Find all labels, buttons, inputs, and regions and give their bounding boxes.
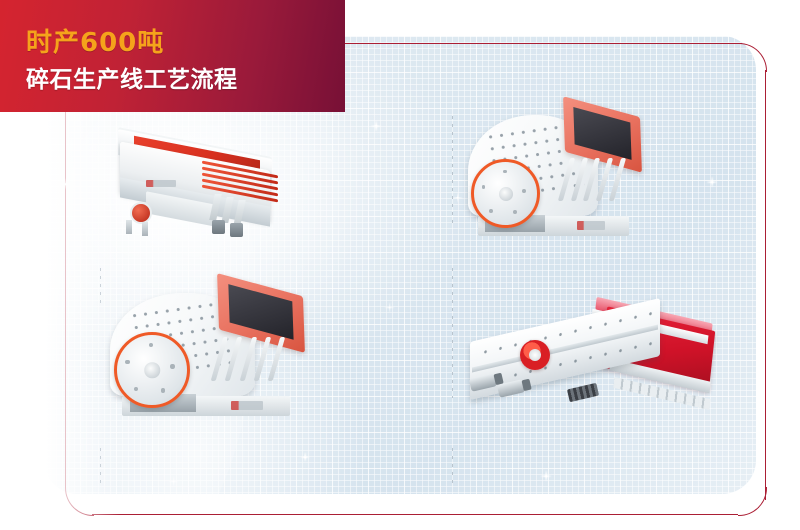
machine-image-hammer-crusher-pcz1716 — [106, 288, 302, 416]
item-card-2[interactable] — [96, 288, 426, 418]
machine-image-hammer-crusher-pcx1213 — [464, 110, 640, 236]
item-card-1[interactable] — [96, 126, 426, 256]
machine-image-vibrating-screen — [464, 296, 714, 416]
item-card-4[interactable] — [450, 296, 780, 420]
machine-image-vibrating-feeder — [106, 132, 296, 242]
frame-rule-bottom — [92, 514, 738, 515]
item-accent-dots — [452, 448, 453, 484]
banner-title-line2: 碎石生产线工艺流程 — [26, 60, 238, 94]
item-card-3[interactable] — [450, 106, 780, 236]
poster-canvas: 1. ZSW600×180振动给料机 3. P — [0, 0, 800, 530]
banner-title-line1: 时产600吨 — [26, 22, 164, 59]
title-banner: 时产600吨 碎石生产线工艺流程 — [0, 0, 345, 112]
frame-rule-top — [338, 43, 742, 44]
